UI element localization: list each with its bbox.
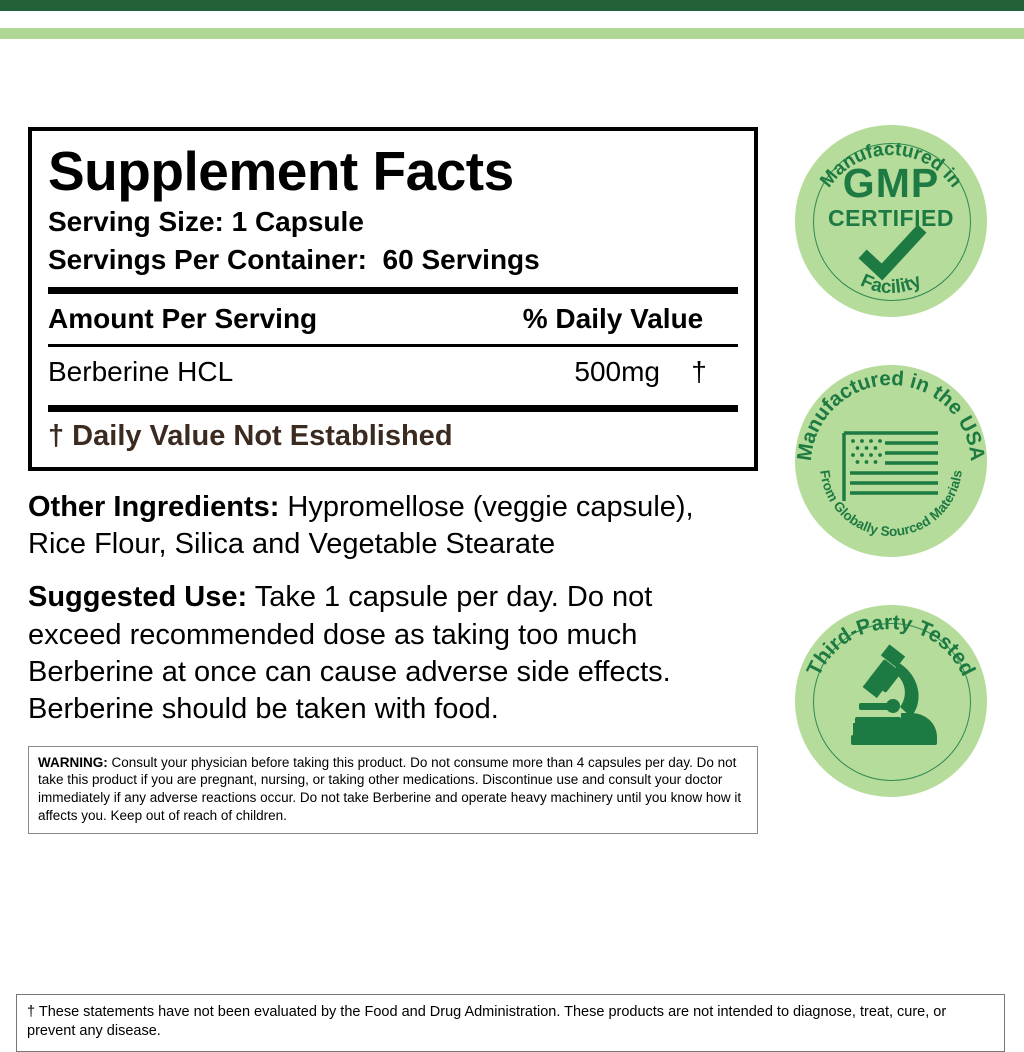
table-row: Berberine HCL 500mg † — [48, 347, 738, 397]
top-dark-green-stripe — [0, 0, 1024, 11]
badge-gmp-certified: Manufactured in Facility GMP CERTIFIED — [795, 125, 987, 317]
badge-made-in-usa: Manufactured in the USA From Globally So… — [795, 365, 987, 557]
ingredient-daily-value: † — [660, 351, 738, 393]
warning-text: Consult your physician before taking thi… — [38, 755, 741, 823]
column-header-daily-value: % Daily Value — [488, 298, 738, 340]
microscope-icon — [795, 605, 987, 797]
column-header-amount: Amount Per Serving — [48, 298, 488, 340]
usa-flag-icon — [795, 365, 987, 557]
suggested-use-label: Suggested Use: — [28, 581, 247, 613]
supplement-facts-panel: Supplement Facts Serving Size: 1 Capsule… — [28, 127, 758, 471]
fda-disclaimer-text: † These statements have not been evaluat… — [27, 1004, 946, 1039]
other-ingredients-paragraph: Other Ingredients: Hypromellose (veggie … — [28, 489, 752, 563]
label-content: Supplement Facts Serving Size: 1 Capsule… — [0, 39, 1024, 1024]
warning-label: WARNING: — [38, 755, 108, 770]
ingredient-amount: 500mg — [485, 351, 660, 393]
daily-value-footnote: † Daily Value Not Established — [48, 412, 738, 455]
left-column: Supplement Facts Serving Size: 1 Capsule… — [28, 127, 758, 834]
serving-size-text: Serving Size: 1 Capsule — [48, 203, 738, 241]
rule-below-rows — [48, 405, 738, 412]
checkmark-icon — [795, 125, 987, 317]
table-header-row: Amount Per Serving % Daily Value — [48, 294, 738, 344]
top-light-green-stripe — [0, 28, 1024, 39]
other-ingredients-label: Other Ingredients: — [28, 491, 279, 523]
badge-third-party-tested: Third-Party Tested — [795, 605, 987, 797]
fda-disclaimer-box: † These statements have not been evaluat… — [16, 994, 1005, 1052]
servings-per-container-text: Servings Per Container: 60 Servings — [48, 241, 738, 279]
badge-column: Manufactured in Facility GMP CERTIFIED — [795, 125, 1005, 845]
warning-box: WARNING: Consult your physician before t… — [28, 746, 758, 834]
rule-above-header — [48, 287, 738, 294]
supplement-facts-title: Supplement Facts — [48, 143, 738, 199]
suggested-use-paragraph: Suggested Use: Take 1 capsule per day. D… — [28, 579, 752, 727]
ingredient-name: Berberine HCL — [48, 351, 485, 393]
